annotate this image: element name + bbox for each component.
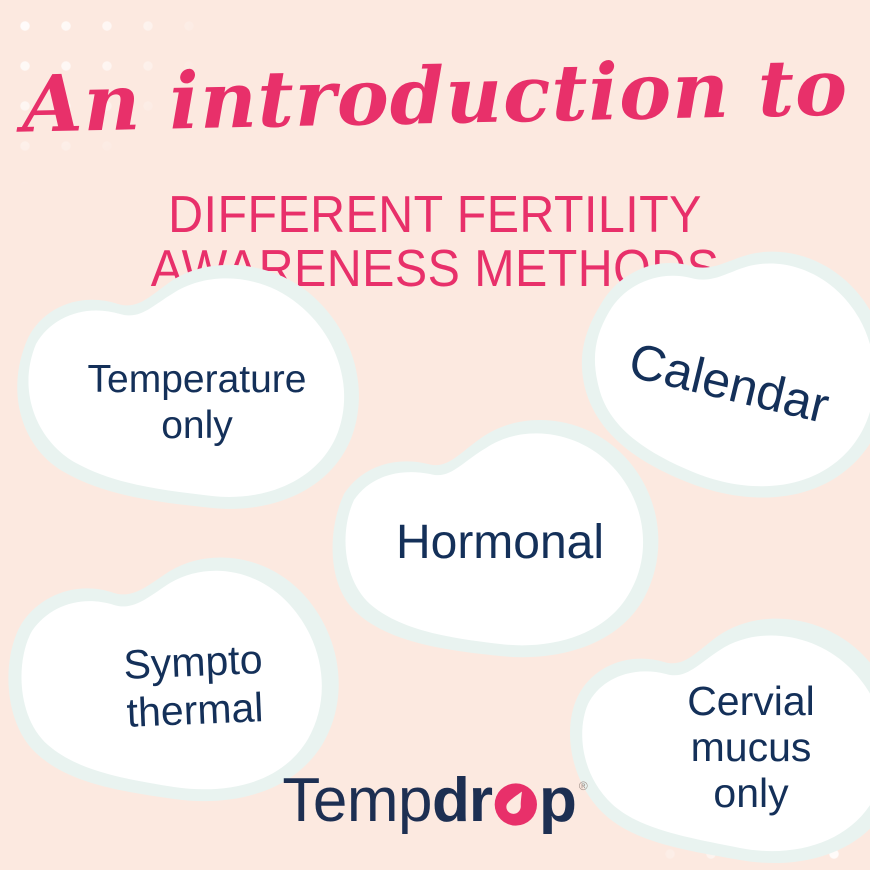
droplet-o-icon bbox=[493, 782, 538, 827]
blob-shape-cervial-mucus-icon bbox=[560, 608, 870, 858]
logo-word-temp: Temp bbox=[282, 770, 432, 832]
logo-word-p: p bbox=[539, 770, 576, 832]
tempdrop-logo[interactable]: Tempdr p® bbox=[282, 770, 587, 832]
logo-word-dr: dr bbox=[432, 770, 492, 832]
method-blob-cervial-mucus: Cervial mucus only bbox=[560, 608, 870, 858]
page-title-script: An introduction to bbox=[0, 49, 870, 145]
registered-trademark-icon: ® bbox=[579, 780, 588, 792]
poster-canvas: An introduction to DIFFERENT FERTILITY A… bbox=[0, 0, 870, 870]
droplet-ring-icon bbox=[493, 782, 538, 827]
